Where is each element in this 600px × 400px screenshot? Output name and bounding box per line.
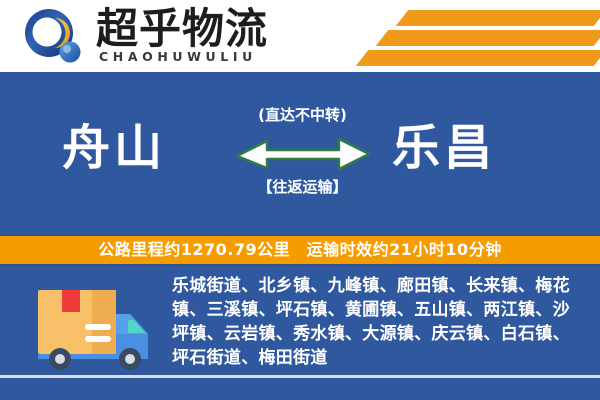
round-trip-note: 【往返运输】 <box>225 178 380 196</box>
bottom-divider <box>0 375 600 378</box>
stripe-3 <box>356 50 600 66</box>
double-headed-arrow-icon <box>225 132 380 172</box>
distance-duration-bar: 公路里程约1270.79公里 运输时效约21小时10分钟 <box>0 234 600 266</box>
distance-duration-text: 公路里程约1270.79公里 运输时效约21小时10分钟 <box>98 240 501 260</box>
brand-name-en: CHAOHUWULIU <box>99 50 257 64</box>
coverage-areas-text: 乐城街道、北乡镇、九峰镇、廊田镇、长来镇、梅花镇、三溪镇、坪石镇、黄圃镇、五山镇… <box>172 274 586 370</box>
logistics-route-banner: 超乎物流 CHAOHUWULIU 舟山 (直达不中转) 【往返运输】 乐昌 公路… <box>0 0 600 400</box>
route-section: 舟山 (直达不中转) 【往返运输】 乐昌 <box>0 72 600 234</box>
stripe-1 <box>396 10 600 26</box>
header-stripes-decoration <box>340 0 600 72</box>
brand-name-cn: 超乎物流 <box>96 6 268 52</box>
coverage-section: 乐城街道、北乡镇、九峰镇、廊田镇、长来镇、梅花镇、三溪镇、坪石镇、黄圃镇、五山镇… <box>0 266 600 400</box>
stripe-2 <box>376 30 600 46</box>
direct-shipping-note: (直达不中转) <box>225 106 380 124</box>
circle-crescent-logo-icon <box>22 7 84 65</box>
delivery-truck-icon <box>30 280 158 376</box>
destination-city: 乐昌 <box>392 120 496 176</box>
banner-header: 超乎物流 CHAOHUWULIU <box>0 0 600 72</box>
origin-city: 舟山 <box>62 120 166 176</box>
route-middle: (直达不中转) 【往返运输】 <box>225 106 380 216</box>
